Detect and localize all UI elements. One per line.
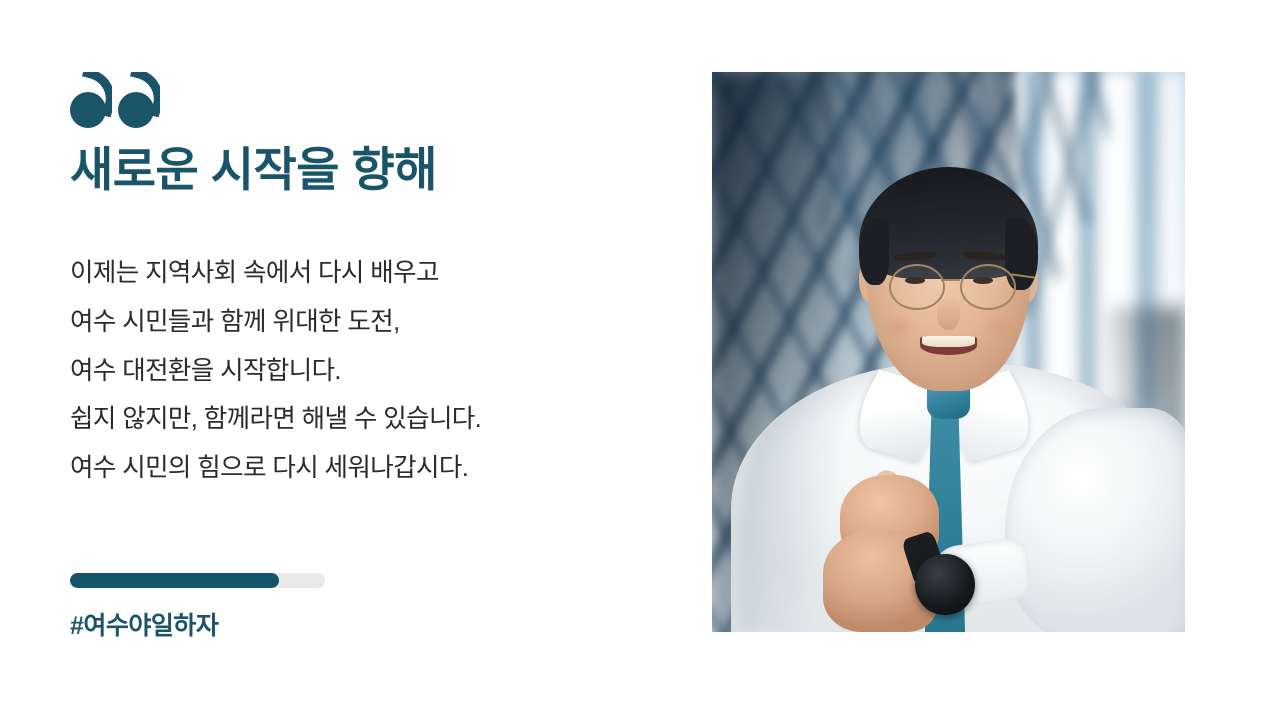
subject-glasses-bridge [941, 279, 960, 281]
body-copy: 이제는 지역사회 속에서 다시 배우고 여수 시민들과 함께 위대한 도전, 여… [70, 249, 650, 494]
subject-glasses-lens-left [889, 264, 945, 311]
headline: 새로운 시작을 향해 [70, 144, 650, 197]
photo-subject [712, 72, 1185, 632]
subject-cheek-right [982, 313, 1020, 341]
subject-cheek-left [880, 313, 918, 341]
subject-smartwatch [915, 554, 974, 616]
subject-hair-side-left [859, 218, 890, 285]
quote-ball-right [118, 92, 154, 128]
subject-teeth [922, 336, 974, 347]
portrait-photo-inner [712, 72, 1185, 632]
hashtag-label: #여수야일하자 [70, 606, 218, 642]
body-line-3: 여수 대전환을 시작합니다. [70, 347, 650, 396]
body-line-4: 쉽지 않지만, 함께라면 해낼 수 있습니다. [70, 395, 650, 444]
subject-glasses-lens-right [960, 264, 1016, 311]
portrait-photo [712, 72, 1185, 632]
progress-bar [70, 573, 325, 588]
progress-bar-fill [70, 573, 279, 588]
body-line-2: 여수 시민들과 함께 위대한 도전, [70, 298, 650, 347]
body-line-1: 이제는 지역사회 속에서 다시 배우고 [70, 249, 650, 298]
quote-glyph-right [118, 72, 160, 128]
quote-ball-left [70, 92, 106, 128]
text-column: 새로운 시작을 향해 이제는 지역사회 속에서 다시 배우고 여수 시민들과 함… [70, 72, 650, 535]
body-line-5: 여수 시민의 힘으로 다시 세워나갑시다. [70, 444, 650, 493]
subject-nose [937, 296, 961, 330]
quote-glyph-left [70, 72, 112, 128]
quotation-mark-icon [70, 72, 162, 132]
slide-root: 새로운 시작을 향해 이제는 지역사회 속에서 다시 배우고 여수 시민들과 함… [0, 0, 1280, 720]
